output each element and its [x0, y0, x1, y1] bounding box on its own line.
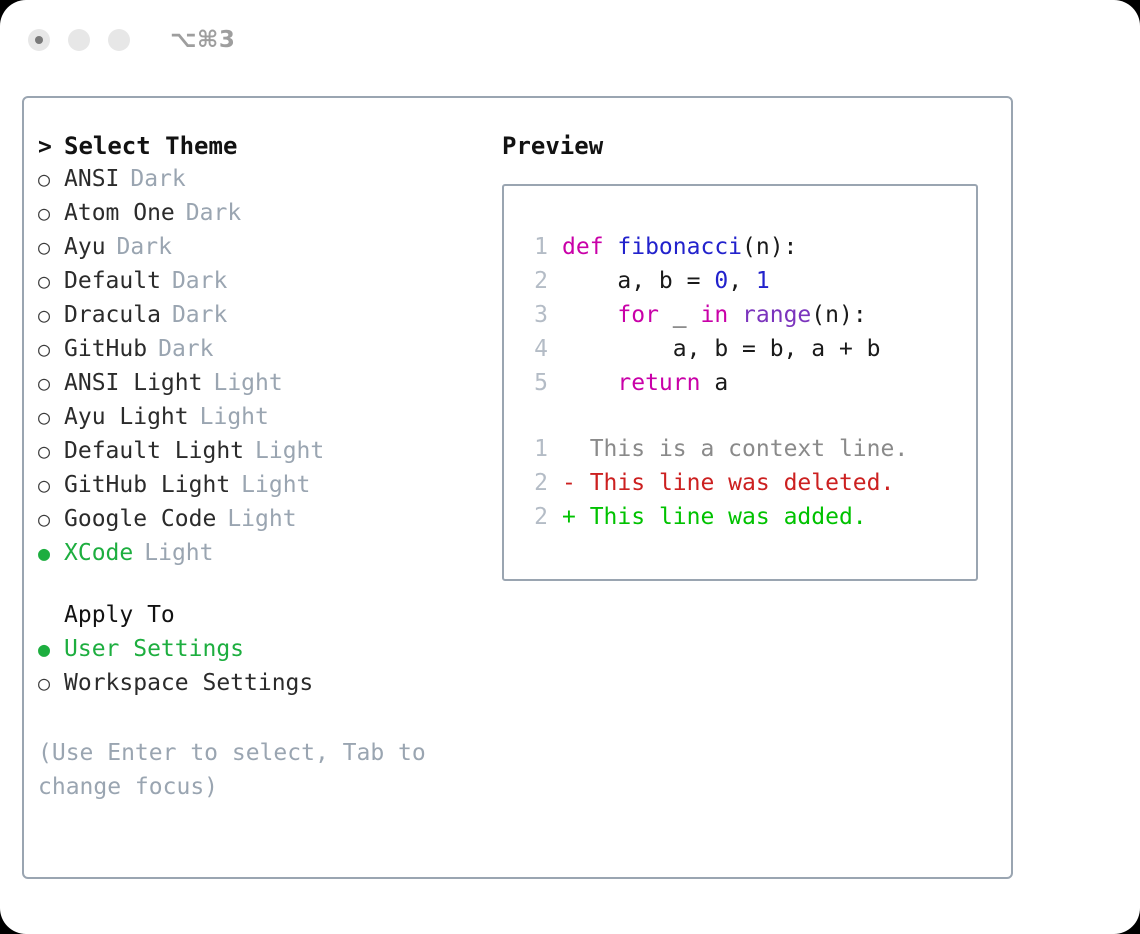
theme-option-variant: Light: [213, 370, 282, 396]
theme-option-row[interactable]: ●XCodeLight: [38, 540, 478, 574]
diff-line-text: This line was deleted.: [576, 470, 895, 496]
radio-unselected-icon: ○: [38, 475, 64, 495]
code-line: 4 a, b = b, a + b: [518, 336, 976, 370]
code-token-plain: a, b =: [562, 268, 714, 294]
theme-option-row[interactable]: ○DefaultDark: [38, 268, 478, 302]
line-number: 5: [518, 370, 548, 396]
diff-sample: 1 This is a context line.2- This line wa…: [518, 436, 976, 538]
code-token-plain: [728, 302, 742, 328]
theme-option-variant: Dark: [172, 268, 227, 294]
theme-option-row[interactable]: ○ANSI LightLight: [38, 370, 478, 404]
diff-line-text: This line was added.: [576, 504, 867, 530]
apply-to-option-label: User Settings: [64, 636, 244, 662]
theme-option-name: ANSI: [64, 166, 119, 192]
code-token-plain: (n):: [811, 302, 866, 328]
theme-option-row[interactable]: ○Ayu LightLight: [38, 404, 478, 438]
code-token-number: 0: [714, 268, 728, 294]
select-theme-header-row: > Select Theme: [38, 132, 478, 166]
theme-option-list: ○ANSIDark○Atom OneDark○AyuDark○DefaultDa…: [38, 166, 478, 574]
caret-icon: >: [38, 136, 64, 159]
diff-line: 2+ This line was added.: [518, 504, 976, 538]
theme-option-name: GitHub Light: [64, 472, 230, 498]
radio-selected-icon: ●: [38, 543, 64, 563]
radio-unselected-icon: ○: [38, 441, 64, 461]
code-line-content: def fibonacci(n):: [562, 234, 797, 260]
apply-to-option-list: ●User Settings○Workspace Settings: [38, 636, 478, 704]
theme-option-variant: Light: [144, 540, 213, 566]
theme-option-variant: Light: [255, 438, 324, 464]
code-token-function: fibonacci: [617, 234, 742, 260]
theme-option-variant: Dark: [130, 166, 185, 192]
radio-selected-icon: ●: [38, 639, 64, 659]
code-token-plain: ,: [728, 268, 756, 294]
theme-list-column: > Select Theme ○ANSIDark○Atom OneDark○Ay…: [38, 132, 478, 804]
select-theme-title: Select Theme: [64, 132, 237, 160]
theme-option-name: Google Code: [64, 506, 216, 532]
line-number: 1: [518, 234, 548, 260]
theme-option-variant: Dark: [117, 234, 172, 260]
code-sample: 1def fibonacci(n):2 a, b = 0, 13 for _ i…: [518, 234, 976, 404]
line-number: 4: [518, 336, 548, 362]
code-line-content: return a: [562, 370, 728, 396]
diff-line-number: 2: [518, 504, 548, 530]
theme-option-name: XCode: [64, 540, 133, 566]
close-button[interactable]: [28, 29, 50, 51]
apply-to-title: Apply To: [64, 602, 175, 628]
apply-to-option-label: Workspace Settings: [64, 670, 313, 696]
theme-option-variant: Light: [200, 404, 269, 430]
radio-unselected-icon: ○: [38, 169, 64, 189]
radio-unselected-icon: ○: [38, 271, 64, 291]
code-token-keyword: in: [700, 302, 728, 328]
diff-line-text: This is a context line.: [576, 436, 908, 462]
radio-unselected-icon: ○: [38, 373, 64, 393]
theme-option-name: Ayu: [64, 234, 106, 260]
preview-code-box: 1def fibonacci(n):2 a, b = 0, 13 for _ i…: [502, 184, 978, 581]
theme-option-row[interactable]: ○Default LightLight: [38, 438, 478, 472]
theme-option-variant: Light: [227, 506, 296, 532]
keyboard-shortcut-label: ⌥⌘3: [170, 27, 235, 53]
radio-unselected-icon: ○: [38, 339, 64, 359]
content-panel: > Select Theme ○ANSIDark○Atom OneDark○Ay…: [22, 96, 1013, 879]
diff-line-number: 2: [518, 470, 548, 496]
theme-option-row[interactable]: ○ANSIDark: [38, 166, 478, 200]
diff-sign: +: [562, 504, 576, 530]
theme-option-name: Ayu Light: [64, 404, 189, 430]
close-dot-icon: [35, 36, 43, 44]
code-token-plain: a: [700, 370, 728, 396]
code-line-content: a, b = 0, 1: [562, 268, 770, 294]
code-token-plain: [562, 370, 617, 396]
theme-option-name: Atom One: [64, 200, 175, 226]
theme-option-row[interactable]: ○Atom OneDark: [38, 200, 478, 234]
radio-unselected-icon: ○: [38, 673, 64, 693]
app-window: ⌥⌘3 > Select Theme ○ANSIDark○Atom OneDar…: [0, 0, 1140, 934]
theme-option-name: Default: [64, 268, 161, 294]
line-number: 3: [518, 302, 548, 328]
title-bar: ⌥⌘3: [0, 0, 1140, 80]
theme-option-row[interactable]: ○AyuDark: [38, 234, 478, 268]
theme-option-row[interactable]: ○GitHub LightLight: [38, 472, 478, 506]
code-line: 3 for _ in range(n):: [518, 302, 976, 336]
apply-to-option-row[interactable]: ○Workspace Settings: [38, 670, 478, 704]
code-line: 1def fibonacci(n):: [518, 234, 976, 268]
preview-column: Preview 1def fibonacci(n):2 a, b = 0, 13…: [502, 132, 992, 581]
theme-option-name: GitHub: [64, 336, 147, 362]
code-token-builtin: range: [742, 302, 811, 328]
diff-line: 1 This is a context line.: [518, 436, 976, 470]
theme-option-variant: Dark: [158, 336, 213, 362]
radio-unselected-icon: ○: [38, 407, 64, 427]
minimize-button[interactable]: [68, 29, 90, 51]
theme-option-variant: Dark: [172, 302, 227, 328]
theme-option-variant: Dark: [186, 200, 241, 226]
preview-title: Preview: [502, 132, 992, 160]
radio-unselected-icon: ○: [38, 203, 64, 223]
diff-sign: -: [562, 470, 576, 496]
theme-option-row[interactable]: ○Google CodeLight: [38, 506, 478, 540]
radio-unselected-icon: ○: [38, 509, 64, 529]
code-line-content: a, b = b, a + b: [562, 336, 881, 362]
code-line-content: for _ in range(n):: [562, 302, 867, 328]
radio-unselected-icon: ○: [38, 237, 64, 257]
apply-to-option-row[interactable]: ●User Settings: [38, 636, 478, 670]
code-token-number: 1: [756, 268, 770, 294]
code-line: 5 return a: [518, 370, 976, 404]
diff-sign: [562, 436, 576, 462]
code-token-keyword: for: [617, 302, 659, 328]
theme-option-name: ANSI Light: [64, 370, 202, 396]
radio-unselected-icon: ○: [38, 305, 64, 325]
code-token-plain: [562, 302, 617, 328]
line-number: 2: [518, 268, 548, 294]
code-token-keyword: return: [617, 370, 700, 396]
code-token-plain: (n):: [742, 234, 797, 260]
diff-line: 2- This line was deleted.: [518, 470, 976, 504]
theme-option-variant: Light: [241, 472, 310, 498]
theme-option-row[interactable]: ○GitHubDark: [38, 336, 478, 370]
code-diff-separator: [518, 404, 976, 436]
code-line: 2 a, b = 0, 1: [518, 268, 976, 302]
code-token-plain: _: [659, 302, 701, 328]
maximize-button[interactable]: [108, 29, 130, 51]
code-token-keyword: def: [562, 234, 617, 260]
keyboard-hint-text: (Use Enter to select, Tab to change focu…: [38, 736, 438, 804]
diff-line-number: 1: [518, 436, 548, 462]
theme-option-name: Default Light: [64, 438, 244, 464]
code-token-plain: a, b = b, a + b: [562, 336, 881, 362]
theme-option-row[interactable]: ○DraculaDark: [38, 302, 478, 336]
apply-to-header-row: Apply To: [38, 602, 478, 636]
theme-option-name: Dracula: [64, 302, 161, 328]
